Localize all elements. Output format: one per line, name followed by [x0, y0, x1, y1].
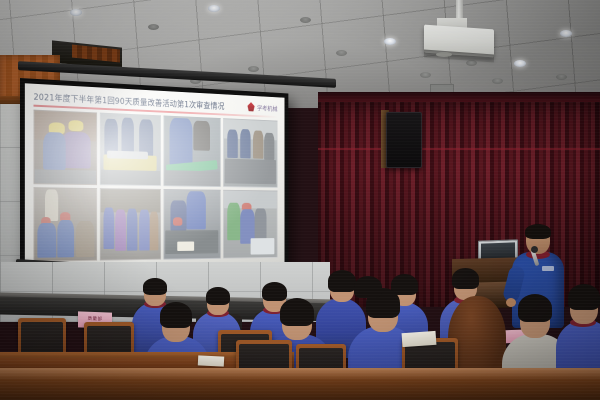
slide-photo	[34, 109, 98, 185]
company-seal-icon	[247, 102, 254, 111]
slide-photo	[223, 118, 278, 188]
audience-hair	[452, 268, 479, 289]
audience-member	[344, 276, 388, 316]
projected-slide: 2021年度下半年第1回90天质量改善活动第1次审查情况 学考机械	[25, 83, 285, 273]
slide-photo	[163, 115, 220, 187]
slide-photo	[34, 187, 98, 262]
projection-screen: 2021年度下半年第1回90天质量改善活动第1次审查情况 学考机械	[20, 78, 288, 278]
handout-paper	[198, 355, 224, 366]
front-desk-highlight	[0, 368, 600, 380]
ceiling-light-icon	[336, 50, 347, 56]
ceiling-light-icon	[300, 17, 311, 23]
presenter-badge	[542, 266, 554, 271]
slide-photo	[163, 189, 220, 260]
ceiling-light-icon	[384, 38, 396, 45]
wall-speaker	[386, 112, 422, 168]
audience-hair	[280, 298, 314, 326]
presenter-hair	[525, 224, 551, 239]
slide-photo	[100, 112, 160, 186]
ceiling-light-icon	[492, 78, 503, 84]
ceiling-light-icon	[514, 60, 526, 67]
audience-hair	[518, 294, 552, 322]
audience-hair	[160, 302, 192, 328]
slide-photo-grid	[34, 109, 278, 261]
screen-surface: 2021年度下半年第1回90天质量改善活动第1次审查情况 学考机械	[25, 83, 285, 273]
ceiling-light-icon	[560, 30, 572, 37]
handout-paper	[402, 331, 437, 347]
audience-hair	[568, 284, 600, 310]
ceiling-light-icon	[70, 9, 82, 16]
ceiling-light-icon	[248, 66, 259, 72]
conference-room-photo: 2021年度下半年第1回90天质量改善活动第1次审查情况 学考机械	[0, 0, 600, 400]
logo-text: 学考机械	[257, 103, 277, 113]
ceiling-light-icon	[556, 74, 567, 80]
slide-photo	[223, 189, 278, 258]
ceiling-light-icon	[208, 5, 220, 12]
microphone-capsule-icon	[531, 246, 538, 253]
audience-hair	[354, 276, 382, 298]
audience-hair	[143, 278, 167, 295]
slide-photo	[100, 188, 160, 261]
slide-logo: 学考机械	[247, 102, 277, 113]
ceiling-light-icon	[148, 24, 159, 30]
ceiling-light-icon	[420, 72, 431, 78]
projector-lens-icon	[436, 52, 452, 57]
